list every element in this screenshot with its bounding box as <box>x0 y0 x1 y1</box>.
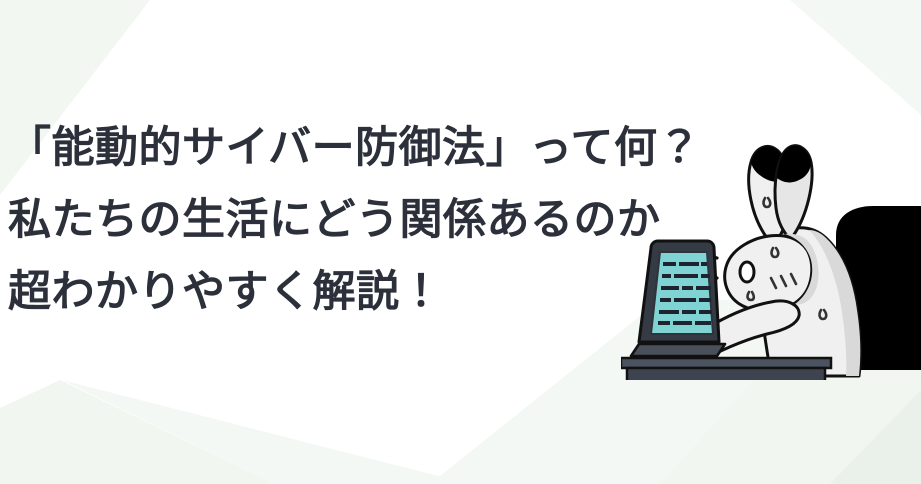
thumbnail-canvas: 「能動的サイバー防御法」って何？ 私たちの生活にどう関係あるのか 超わかりやすく… <box>0 0 921 484</box>
headline-line-2: 私たちの生活にどう関係あるのか <box>8 184 668 256</box>
rabbit-eye <box>740 262 754 282</box>
headline-line-1: 「能動的サイバー防御法」って何？ <box>8 112 668 184</box>
headline: 「能動的サイバー防御法」って何？ 私たちの生活にどう関係あるのか 超わかりやすく… <box>8 112 668 328</box>
rabbit-face <box>725 234 819 311</box>
desk <box>621 358 831 380</box>
headline-line-3: 超わかりやすく解説！ <box>8 256 668 328</box>
